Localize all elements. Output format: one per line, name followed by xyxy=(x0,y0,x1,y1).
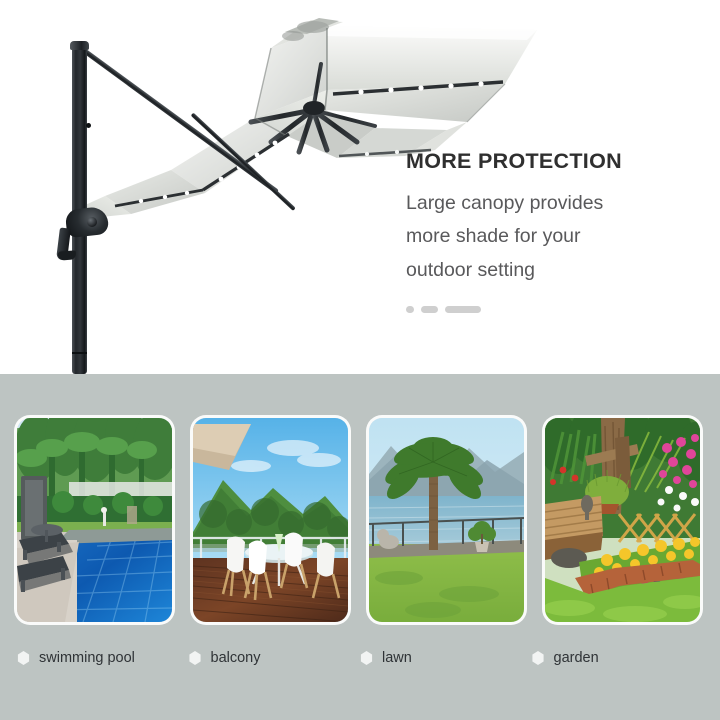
scene-label-text: balcony xyxy=(211,650,261,666)
scene-gallery-section: swimming pool balcony lawn garden xyxy=(0,374,720,720)
scene-label-swimming-pool[interactable]: swimming pool xyxy=(17,644,189,672)
hexagon-bullet-icon xyxy=(360,651,373,665)
scene-label-row: swimming pool balcony lawn garden xyxy=(17,644,703,672)
hero-headline: MORE PROTECTION xyxy=(406,150,686,174)
pagination-dot-3-active[interactable] xyxy=(445,306,481,313)
carousel-pagination[interactable] xyxy=(406,306,686,313)
pole-seam xyxy=(72,352,87,354)
product-banner: MORE PROTECTION Large canopy provides mo… xyxy=(0,0,720,720)
hexagon-bullet-icon xyxy=(189,651,202,665)
scene-thumbnail-garden[interactable] xyxy=(545,418,700,622)
scene-thumbnail-balcony[interactable] xyxy=(193,418,348,622)
hexagon-bullet-icon xyxy=(17,651,30,665)
pagination-dot-2[interactable] xyxy=(421,306,438,313)
scene-thumbnail-lawn[interactable] xyxy=(369,418,524,622)
pagination-dot-1[interactable] xyxy=(406,306,414,313)
scene-label-lawn[interactable]: lawn xyxy=(360,644,532,672)
hero-section: MORE PROTECTION Large canopy provides mo… xyxy=(0,0,720,374)
scene-label-text: lawn xyxy=(382,650,412,666)
scene-label-text: swimming pool xyxy=(39,650,135,666)
pole-pin xyxy=(86,123,91,128)
pole-top-cap xyxy=(70,41,89,50)
scene-thumbnail-swimming-pool[interactable] xyxy=(17,418,172,622)
hero-copy: MORE PROTECTION Large canopy provides mo… xyxy=(406,150,686,313)
scene-label-balcony[interactable]: balcony xyxy=(189,644,361,672)
hero-subcopy: Large canopy provides more shade for you… xyxy=(406,187,686,288)
hero-subcopy-line-2: more shade for your xyxy=(406,220,686,254)
scene-thumbnail-row xyxy=(17,418,703,622)
hero-subcopy-line-3: outdoor setting xyxy=(406,254,686,288)
scene-label-garden[interactable]: garden xyxy=(532,644,704,672)
hexagon-bullet-icon xyxy=(532,651,545,665)
hero-subcopy-line-1: Large canopy provides xyxy=(406,187,686,221)
scene-label-text: garden xyxy=(554,650,599,666)
hub-bolt xyxy=(87,217,97,227)
